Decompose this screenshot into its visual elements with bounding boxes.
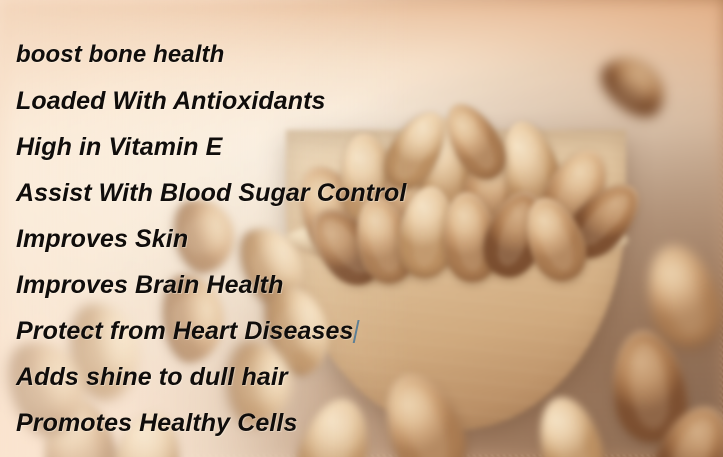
- benefit-label: Improves Brain Health: [16, 271, 283, 299]
- benefit-item-6: Improves Brain Health: [16, 262, 706, 308]
- benefit-item-1: boost bone health: [16, 32, 706, 78]
- benefit-item-8: Adds shine to dull hair: [16, 354, 706, 400]
- benefit-label: Assist With Blood Sugar Control: [16, 179, 406, 207]
- benefit-item-2: Loaded With Antioxidants: [16, 78, 706, 124]
- benefit-label: Loaded With Antioxidants: [16, 87, 326, 115]
- almond-benefits-poster: boost bone health Loaded With Antioxidan…: [0, 0, 723, 457]
- benefit-item-5: Improves Skin: [16, 216, 706, 262]
- benefit-label: High in Vitamin E: [16, 133, 222, 161]
- benefit-item-3: High in Vitamin E: [16, 124, 706, 170]
- benefits-list: boost bone health Loaded With Antioxidan…: [16, 32, 706, 446]
- benefit-label: Improves Skin: [16, 225, 188, 253]
- benefit-item-9: Promotes Healthy Cells: [16, 400, 706, 446]
- benefit-item-4: Assist With Blood Sugar Control: [16, 170, 706, 216]
- benefit-label: Protect from Heart Diseases: [16, 317, 354, 345]
- benefit-label: Adds shine to dull hair: [16, 363, 288, 391]
- benefit-label: boost bone health: [16, 41, 224, 68]
- benefit-item-7: Protect from Heart Diseases: [16, 308, 706, 354]
- benefit-label: Promotes Healthy Cells: [16, 409, 297, 437]
